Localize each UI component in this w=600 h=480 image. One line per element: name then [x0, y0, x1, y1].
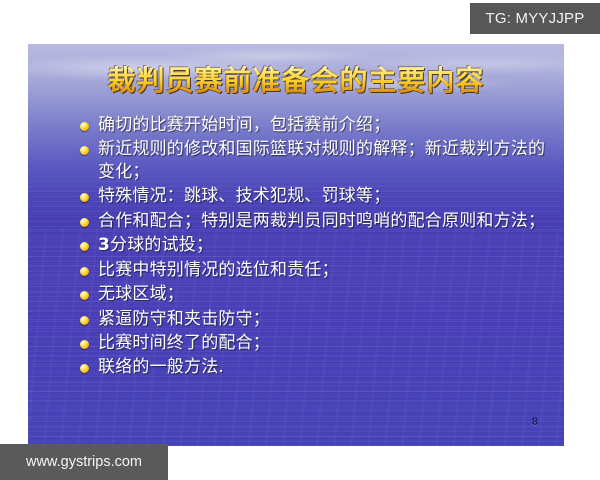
bullet-dot-icon [80, 340, 89, 349]
list-item-label: 比赛中特别情况的选位和责任； [98, 259, 546, 281]
list-item: 特殊情况：跳球、技术犯规、罚球等； [80, 185, 546, 207]
list-item: 比赛时间终了的配合； [80, 332, 546, 354]
list-item-label: 无球区域； [98, 283, 546, 305]
list-item: 比赛中特别情况的选位和责任； [80, 259, 546, 281]
presentation-slide: 裁判员赛前准备会的主要内容 确切的比赛开始时间，包括赛前介绍； 新近规则的修改和… [28, 44, 564, 446]
list-item: 新近规则的修改和国际篮联对规则的解释；新近裁判方法的变化； [80, 138, 546, 183]
list-item-lead-number: 3 [98, 235, 110, 255]
list-item: 紧逼防守和夹击防守； [80, 308, 546, 330]
bullet-dot-icon [80, 146, 89, 155]
list-item: 3分球的试投； [80, 234, 546, 256]
bullet-dot-icon [80, 193, 89, 202]
list-item-rest: 分球的试投； [110, 235, 213, 255]
slide-title: 裁判员赛前准备会的主要内容 [28, 66, 564, 97]
list-item: 合作和配合；特别是两裁判员同时鸣哨的配合原则和方法； [80, 210, 546, 232]
bullet-dot-icon [80, 364, 89, 373]
list-item: 无球区域； [80, 283, 546, 305]
bullet-list: 确切的比赛开始时间，包括赛前介绍； 新近规则的修改和国际篮联对规则的解释；新近裁… [80, 114, 546, 381]
telegram-handle-watermark: TG: MYYJJPP [470, 3, 600, 34]
list-item: 确切的比赛开始时间，包括赛前介绍； [80, 114, 546, 136]
list-item-label: 3分球的试投； [98, 234, 546, 256]
list-item-label: 联络的一般方法. [98, 356, 546, 378]
bullet-dot-icon [80, 218, 89, 227]
bullet-dot-icon [80, 316, 89, 325]
list-item-label: 新近规则的修改和国际篮联对规则的解释；新近裁判方法的变化； [98, 138, 546, 183]
bullet-dot-icon [80, 267, 89, 276]
list-item-label: 合作和配合；特别是两裁判员同时鸣哨的配合原则和方法； [98, 210, 546, 232]
bullet-dot-icon [80, 291, 89, 300]
list-item-label: 确切的比赛开始时间，包括赛前介绍； [98, 114, 546, 136]
site-url-watermark: www.gystrips.com [0, 444, 168, 480]
list-item-label: 紧逼防守和夹击防守； [98, 308, 546, 330]
bullet-dot-icon [80, 122, 89, 131]
slide-page-number: 8 [532, 416, 538, 428]
list-item: 联络的一般方法. [80, 356, 546, 378]
list-item-label: 特殊情况：跳球、技术犯规、罚球等； [98, 185, 546, 207]
bullet-dot-icon [80, 242, 89, 251]
list-item-label: 比赛时间终了的配合； [98, 332, 546, 354]
